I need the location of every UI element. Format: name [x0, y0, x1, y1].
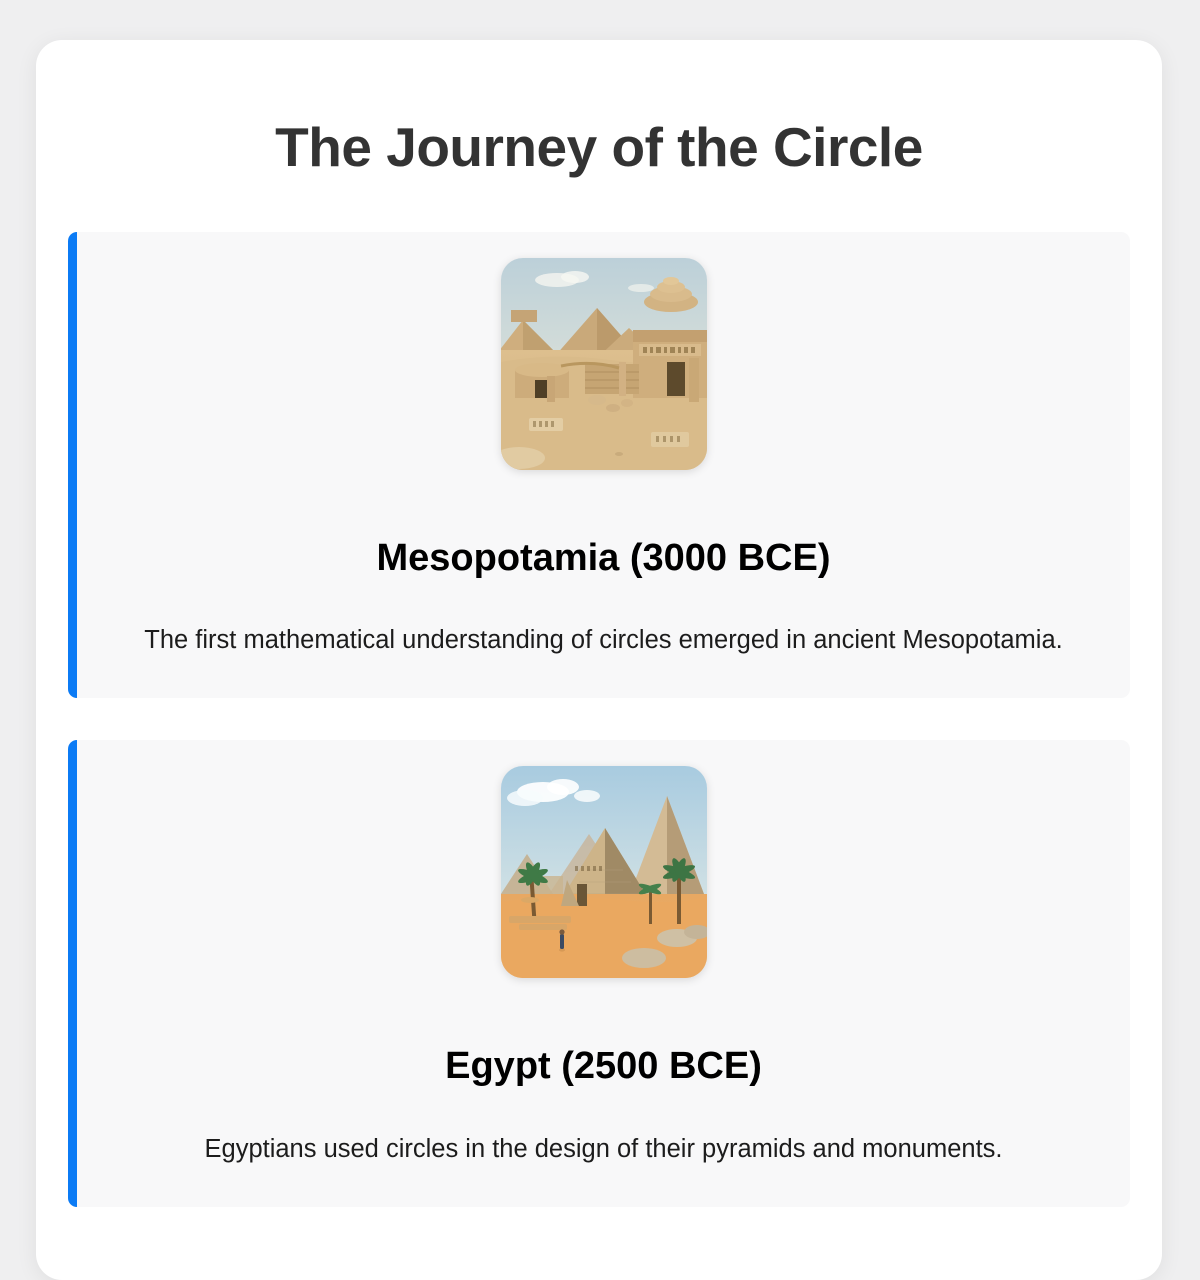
content-card: The Journey of the Circle: [36, 40, 1162, 1280]
timeline-card-media: [105, 766, 1102, 978]
timeline-card-egypt[interactable]: Egypt (2500 BCE) Egyptians used circles …: [68, 740, 1130, 1207]
timeline-card-description: The first mathematical understanding of …: [124, 622, 1084, 658]
egypt-pyramids-photo: [501, 766, 707, 978]
timeline-card-title: Mesopotamia (3000 BCE): [105, 537, 1102, 581]
timeline-card-title: Egypt (2500 BCE): [105, 1045, 1102, 1089]
mesopotamia-ruins-illustration: [501, 258, 707, 470]
timeline-card-media: [105, 258, 1102, 470]
page-title: The Journey of the Circle: [36, 117, 1162, 178]
timeline-card-description: Egyptians used circles in the design of …: [124, 1131, 1084, 1167]
egypt-pyramids-illustration: [501, 766, 707, 978]
timeline-card-mesopotamia[interactable]: Mesopotamia (3000 BCE) The first mathema…: [68, 232, 1130, 699]
timeline-list: Mesopotamia (3000 BCE) The first mathema…: [36, 232, 1162, 1208]
mesopotamia-ruins-photo: [501, 258, 707, 470]
